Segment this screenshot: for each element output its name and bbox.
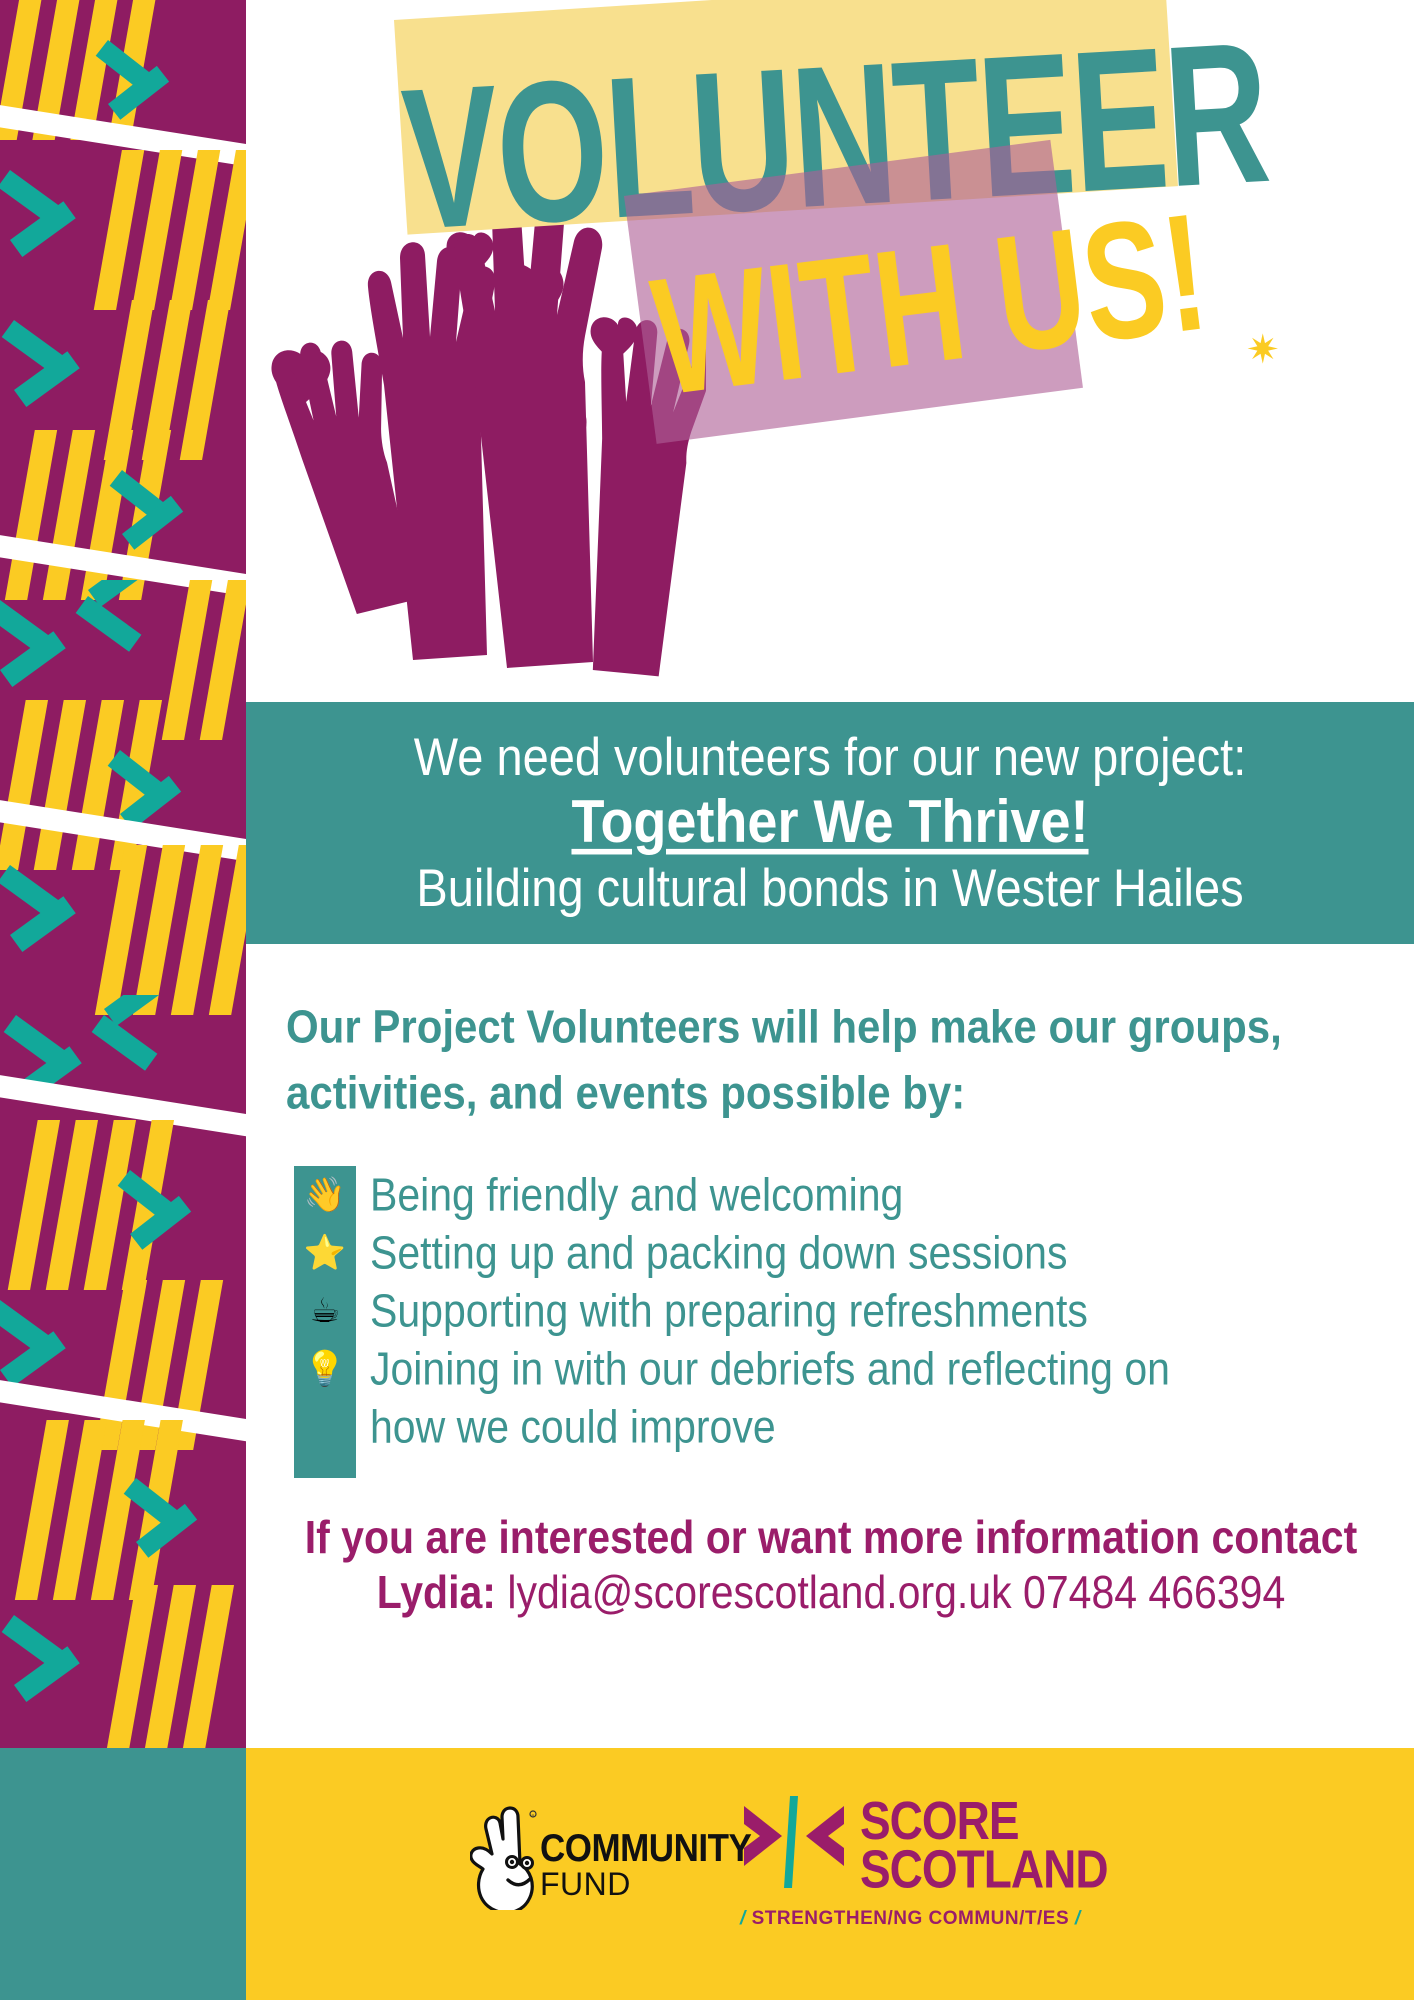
project-info-band: We need volunteers for our new project: …: [246, 702, 1414, 944]
contact-details: Lydia: lydia@scorescotland.org.uk 07484 …: [276, 1560, 1386, 1624]
list-item-label: Joining in with our debriefs and reflect…: [370, 1337, 1170, 1402]
contact-phone[interactable]: 07484 466394: [1023, 1566, 1285, 1618]
contact-block: If you are interested or want more infor…: [276, 1510, 1386, 1620]
list-item: ⭐ Setting up and packing down sessions: [294, 1224, 1354, 1282]
score-scotland-logo: SCORE SCOTLAND / STRENGTHEN/NG COMMUN/T/…: [740, 1796, 1040, 1956]
hero-artwork-area: VOLUNTEER WITH US! ✷: [246, 0, 1414, 705]
contact-email[interactable]: lydia@scorescotland.org.uk: [507, 1566, 1011, 1618]
crossed-fingers-hand-icon: R: [470, 1800, 550, 1910]
list-item: 💡 Joining in with our debriefs and refle…: [294, 1340, 1354, 1398]
community-fund-logo: R COMMUNITY FUND: [470, 1800, 710, 1940]
score-arrows-mark-icon: [740, 1796, 848, 1888]
list-item-label: Supporting with preparing refreshments: [370, 1279, 1088, 1344]
community-fund-line2: FUND: [540, 1866, 751, 1902]
body-content: Our Project Volunteers will help make ou…: [246, 944, 1414, 1748]
sparkle-icon: ✷: [1246, 330, 1280, 370]
score-line2: SCOTLAND: [860, 1840, 1108, 1898]
score-tagline-text: STRENGTHEN/NG COMMUN/T/ES: [752, 1908, 1070, 1929]
community-fund-line1: COMMUNITY: [540, 1828, 751, 1870]
light-bulb-icon: 💡: [294, 1340, 356, 1398]
band-line-need-volunteers: We need volunteers for our new project:: [414, 722, 1247, 791]
footer: R COMMUNITY FUND SCORE SCOTLAND / STRENG…: [0, 1748, 1414, 2000]
list-item-label-continuation: how we could improve: [370, 1395, 1354, 1460]
contact-prompt: If you are interested or want more infor…: [276, 1506, 1386, 1568]
svg-text:R: R: [532, 1813, 535, 1818]
decorative-pattern-column: [0, 0, 246, 1748]
list-item-label: Setting up and packing down sessions: [370, 1221, 1067, 1286]
hot-beverage-icon: ☕: [294, 1282, 356, 1340]
community-fund-wordmark: COMMUNITY FUND: [540, 1828, 751, 1902]
project-subtitle: Building cultural bonds in Wester Hailes: [416, 852, 1243, 924]
list-item: 👋 Being friendly and welcoming: [294, 1166, 1354, 1224]
score-wordmark: SCORE SCOTLAND: [860, 1794, 1108, 1890]
volunteer-tasks-list: 👋 Being friendly and welcoming ⭐ Setting…: [294, 1166, 1354, 1456]
contact-name: Lydia:: [377, 1566, 496, 1618]
volunteer-tasks-heading: Our Project Volunteers will help make ou…: [286, 994, 1296, 1126]
star-icon: ⭐: [294, 1224, 356, 1282]
footer-teal-block: [0, 1748, 246, 2000]
poster: VOLUNTEER WITH US! ✷ We need volunteers …: [0, 0, 1414, 2000]
score-tagline: / STRENGTHEN/NG COMMUN/T/ES /: [740, 1908, 1040, 1930]
project-title: Together We Thrive!: [571, 784, 1088, 860]
list-item: ☕ Supporting with preparing refreshments: [294, 1282, 1354, 1340]
waving-hand-icon: 👋: [294, 1166, 356, 1224]
list-item-label: Being friendly and welcoming: [370, 1163, 903, 1228]
